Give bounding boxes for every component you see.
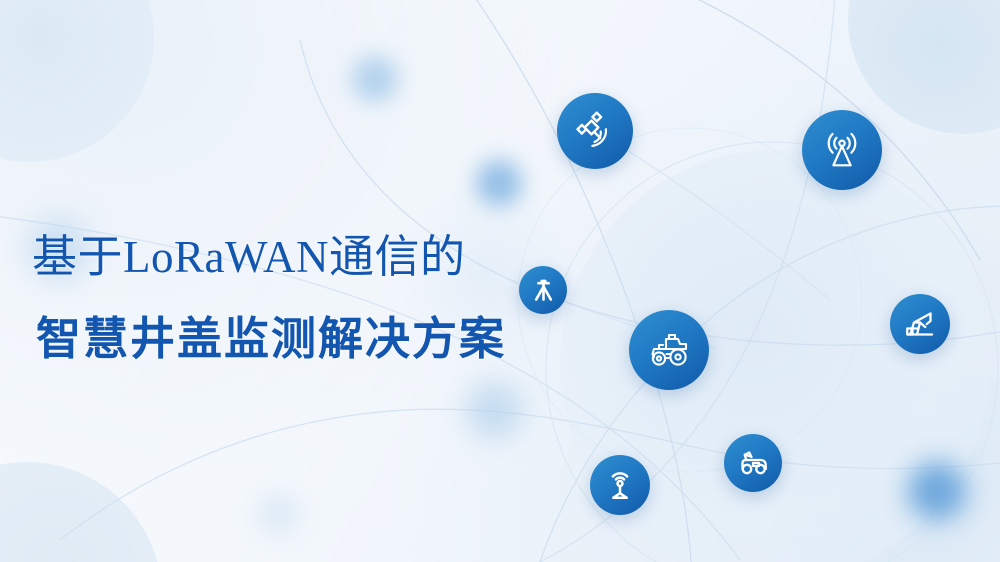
title-line-2: 智慧井盖监测解决方案 [36,308,652,370]
accent-dot-f [256,492,300,536]
accent-dot-b [476,160,522,206]
accent-dot-a [352,56,398,102]
decorative-blob-bottom-right [786,366,1000,562]
oil-pumpjack-icon [902,306,938,342]
decorative-blob-top-left [0,0,154,162]
page-title: 基于LoRaWAN通信的 智慧井盖监测解决方案 [32,226,652,370]
title-line-1: 基于LoRaWAN通信的 [32,226,652,288]
decorative-blob-top-right [848,0,1000,134]
node-harvester-robot[interactable] [724,434,782,492]
node-satellite[interactable] [557,93,633,169]
radio-tower-icon [819,127,865,173]
node-wireless-sensor[interactable] [590,455,650,515]
satellite-icon [574,110,616,152]
tractor-icon [645,326,693,374]
node-radio-tower[interactable] [802,110,882,190]
title-slide: 基于LoRaWAN通信的 智慧井盖监测解决方案 [0,0,1000,562]
wireless-sensor-icon [602,467,638,503]
accent-dot-e [908,462,966,520]
accent-dot-d [466,382,522,438]
decorative-blob-bottom-left [0,462,162,562]
node-oil-pumpjack[interactable] [890,294,950,354]
harvester-robot-icon [735,445,771,481]
